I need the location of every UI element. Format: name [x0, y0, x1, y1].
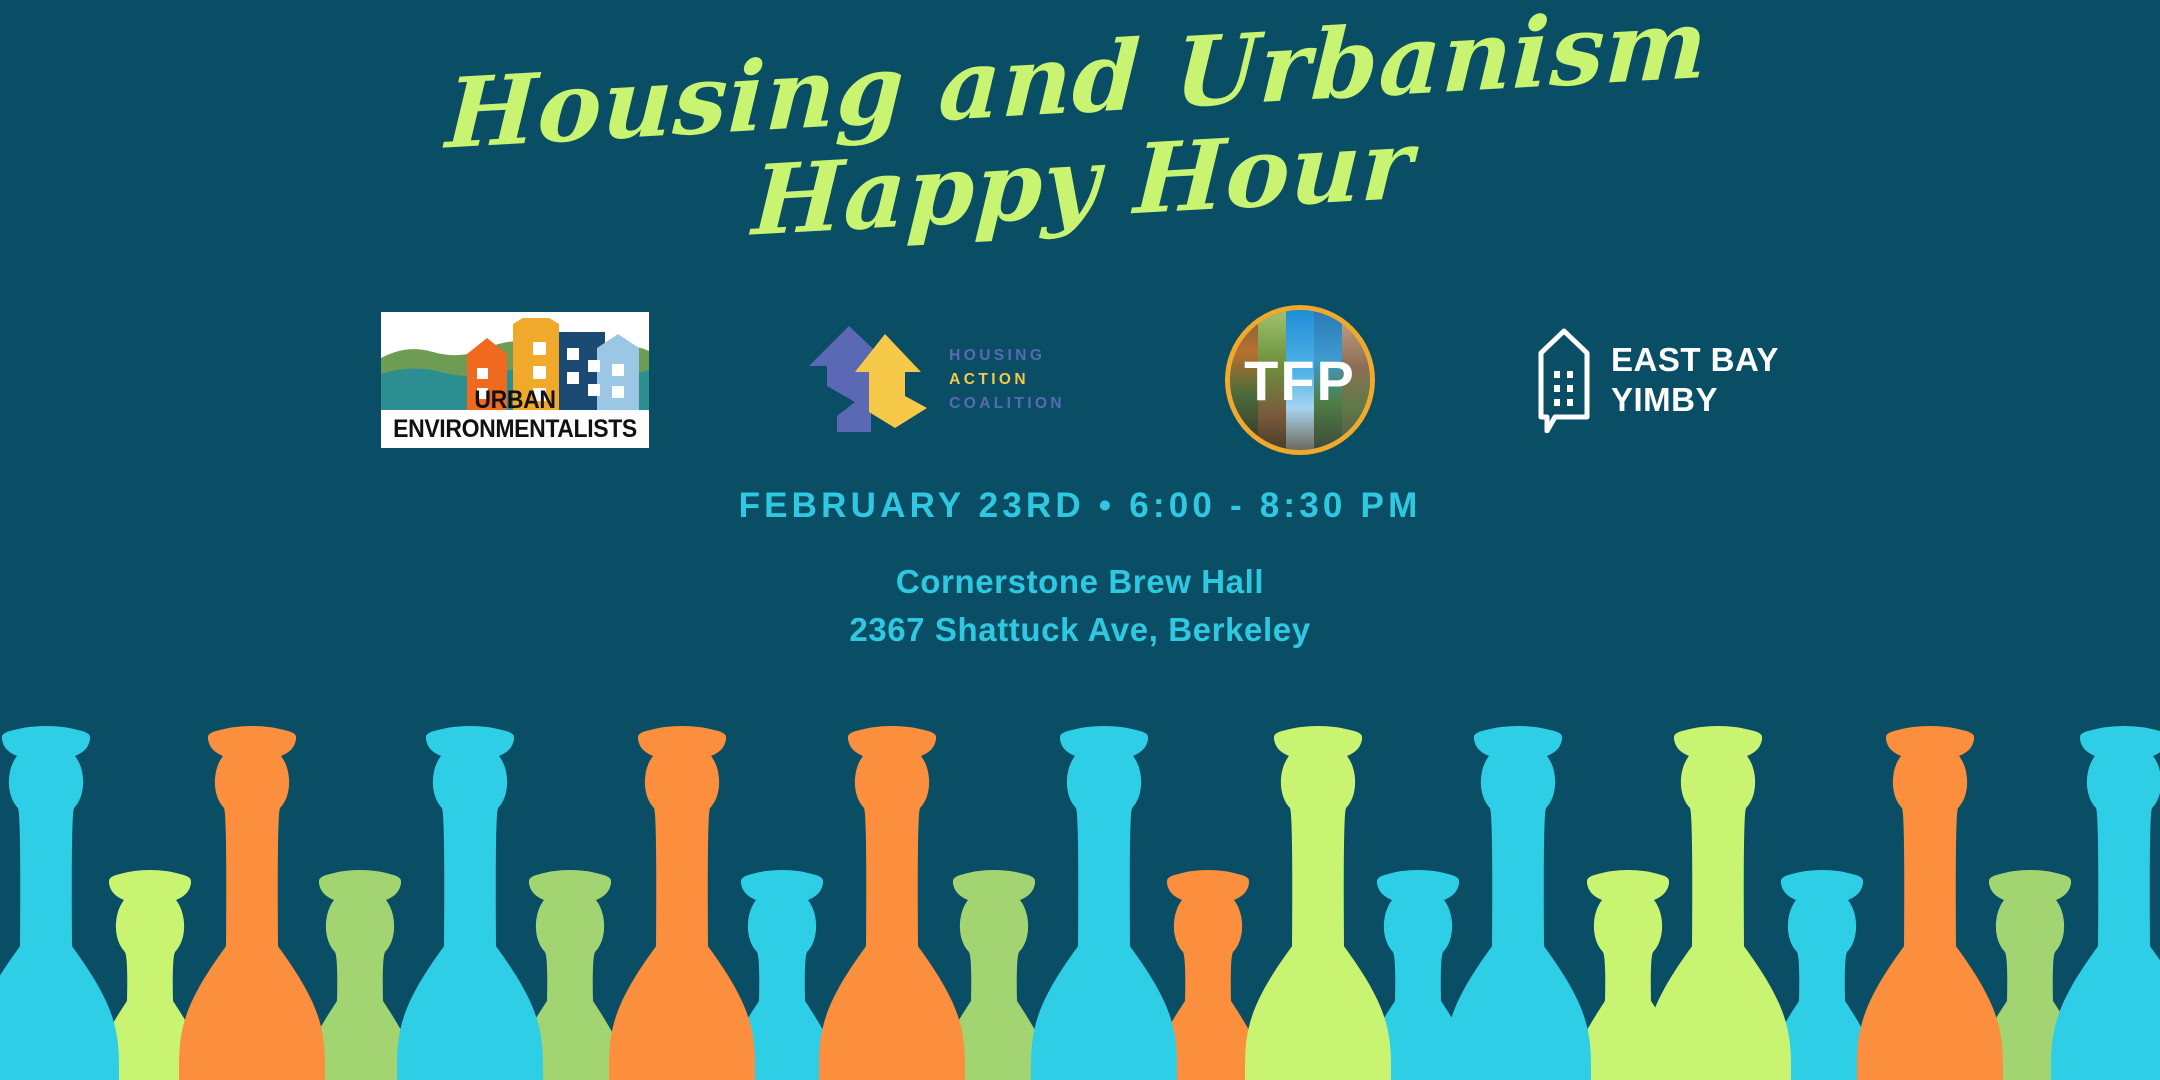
bottle-cap-lip	[208, 726, 296, 752]
hac-line-action: ACTION	[949, 368, 1065, 392]
bottle-cap-lip	[953, 870, 1035, 896]
bottle-silhouette	[1645, 728, 1791, 1080]
bottle-cap-lip	[1377, 870, 1459, 896]
bottle-cap-lip	[848, 726, 936, 752]
front-row-bottle-5	[1031, 726, 1177, 1080]
bottle-cap-lip	[1474, 726, 1562, 752]
bottle-silhouette	[1857, 728, 2003, 1080]
sponsor-logo-row: URBAN ENVIRONMENTALISTS HOUSING ACTION C…	[0, 300, 2160, 460]
hac-line-coalition: COALITION	[949, 392, 1065, 416]
bottle-silhouette	[2051, 728, 2160, 1080]
front-row-bottle-3	[609, 726, 755, 1080]
bottle-cap-lip	[1274, 726, 1362, 752]
bottle-silhouette	[609, 728, 755, 1080]
hac-wordmark: HOUSING ACTION COALITION	[949, 344, 1065, 416]
logo-east-bay-yimby: EAST BAY YIMBY	[1535, 327, 1779, 433]
front-row-bottle-4	[819, 726, 965, 1080]
eby-building-speech-bubble-icon	[1535, 327, 1593, 433]
bottle-silhouette	[397, 728, 543, 1080]
bottle-cap-lip	[319, 870, 401, 896]
eby-wordmark: EAST BAY YIMBY	[1611, 340, 1779, 421]
bottle-cap-lip	[2, 726, 90, 752]
bottle-silhouette	[1445, 728, 1591, 1080]
bottle-silhouette	[0, 728, 119, 1080]
logo-tfp: TFP	[1225, 305, 1375, 455]
page-title: Housing and Urbanism Happy Hour	[0, 0, 2160, 292]
tfp-letters: TFP	[1230, 310, 1370, 450]
bottle-cap-lip	[741, 870, 823, 896]
bottle-silhouette	[819, 728, 965, 1080]
event-flyer: Housing and Urbanism Happy Hour	[0, 0, 2160, 1080]
logo-housing-action-coalition: HOUSING ACTION COALITION	[809, 324, 1065, 436]
eby-line-2: YIMBY	[1611, 380, 1779, 420]
front-row-bottle-6	[1245, 726, 1391, 1080]
bottle-cap-lip	[426, 726, 514, 752]
urban-environmentalists-wordmark: URBAN ENVIRONMENTALISTS	[392, 386, 639, 444]
front-row-bottle-7	[1445, 726, 1591, 1080]
hac-arrow-houses-icon	[809, 324, 933, 436]
front-row-bottle-2	[397, 726, 543, 1080]
hac-line-housing: HOUSING	[949, 344, 1065, 368]
title-line-1: Housing and Urbanism	[0, 0, 2158, 188]
logo-urban-environmentalists: URBAN ENVIRONMENTALISTS	[381, 312, 649, 448]
bottle-cap-lip	[638, 726, 726, 752]
front-row-bottle-9	[1857, 726, 2003, 1080]
bottle-cap-lip	[1989, 870, 2071, 896]
front-row-bottle-8	[1645, 726, 1791, 1080]
bottle-cap-lip	[1886, 726, 1974, 752]
bottle-cap-lip	[1060, 726, 1148, 752]
front-row-bottle-1	[179, 726, 325, 1080]
bottle-cap-lip	[1674, 726, 1762, 752]
bottle-cap-lip	[109, 870, 191, 896]
bottle-cap-lip	[1167, 870, 1249, 896]
eby-line-1: EAST BAY	[1611, 340, 1779, 380]
title-line-2: Happy Hour	[2, 73, 2160, 292]
bottle-silhouette	[1245, 728, 1391, 1080]
beer-bottle-pattern	[0, 510, 2160, 1080]
bottle-cap-lip	[1587, 870, 1669, 896]
front-row-bottle-10	[2051, 726, 2160, 1080]
front-row-bottle-0	[0, 726, 119, 1080]
bottle-silhouette	[1031, 728, 1177, 1080]
bottle-silhouette	[179, 728, 325, 1080]
bottle-cap-lip	[1781, 870, 1863, 896]
bottle-cap-lip	[529, 870, 611, 896]
